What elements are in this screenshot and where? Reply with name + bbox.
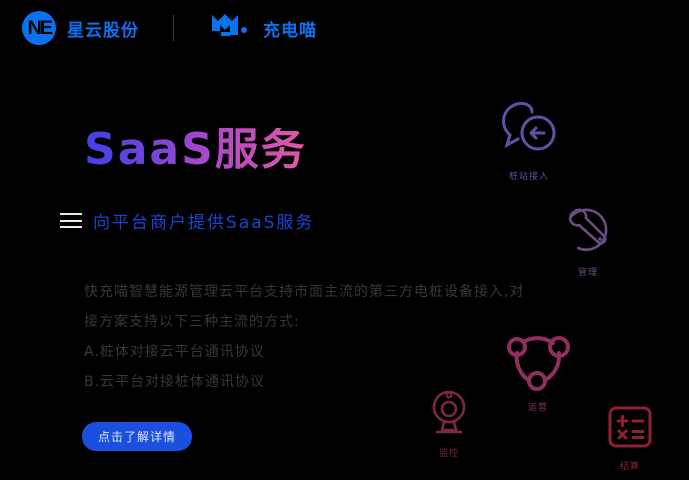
chat-bubbles-icon — [498, 100, 560, 165]
deco-settle-label: 结算 — [620, 459, 640, 472]
brand-chongdianmiao[interactable]: 充电喵 — [210, 13, 317, 44]
ne-logo-glyph: NE — [27, 19, 51, 38]
vertical-divider-icon — [173, 15, 174, 41]
deco-manage: 管理 — [562, 206, 614, 278]
brand-xingyun-label: 星云股份 — [67, 16, 139, 41]
page-title: SaaS服务 — [84, 128, 307, 172]
ne-circle-logo-icon: NE — [22, 11, 56, 45]
camera-monitor-icon — [424, 389, 474, 442]
page-header: NE 星云股份 充电喵 — [0, 0, 689, 56]
body-line: 快充喵智慧能源管理云平台支持市面主流的第三方电桩设备接入,对 — [84, 277, 584, 307]
deco-operate: 运营 — [503, 325, 573, 413]
page-subtitle: 向平台商户提供SaaS服务 — [93, 208, 314, 233]
learn-more-button[interactable]: 点击了解详情 — [82, 422, 192, 451]
wrench-gear-icon — [562, 206, 614, 261]
brand-xingyun[interactable]: NE 星云股份 — [22, 11, 139, 45]
network-nodes-icon — [503, 325, 573, 396]
deco-operate-label: 运营 — [528, 400, 548, 413]
subtitle-row: 向平台商户提供SaaS服务 — [60, 208, 314, 233]
deco-access-label: 桩站接入 — [509, 169, 549, 182]
hamburger-menu-icon[interactable] — [60, 213, 82, 228]
deco-monitor: 监控 — [424, 389, 474, 459]
cat-face-logo-icon — [210, 13, 254, 44]
deco-access: 桩站接入 — [498, 100, 560, 182]
deco-manage-label: 管理 — [578, 265, 598, 278]
brand-chongdianmiao-label: 充电喵 — [263, 16, 317, 41]
calculator-icon — [606, 404, 654, 455]
deco-monitor-label: 监控 — [439, 446, 459, 459]
deco-settle: 结算 — [606, 404, 654, 472]
